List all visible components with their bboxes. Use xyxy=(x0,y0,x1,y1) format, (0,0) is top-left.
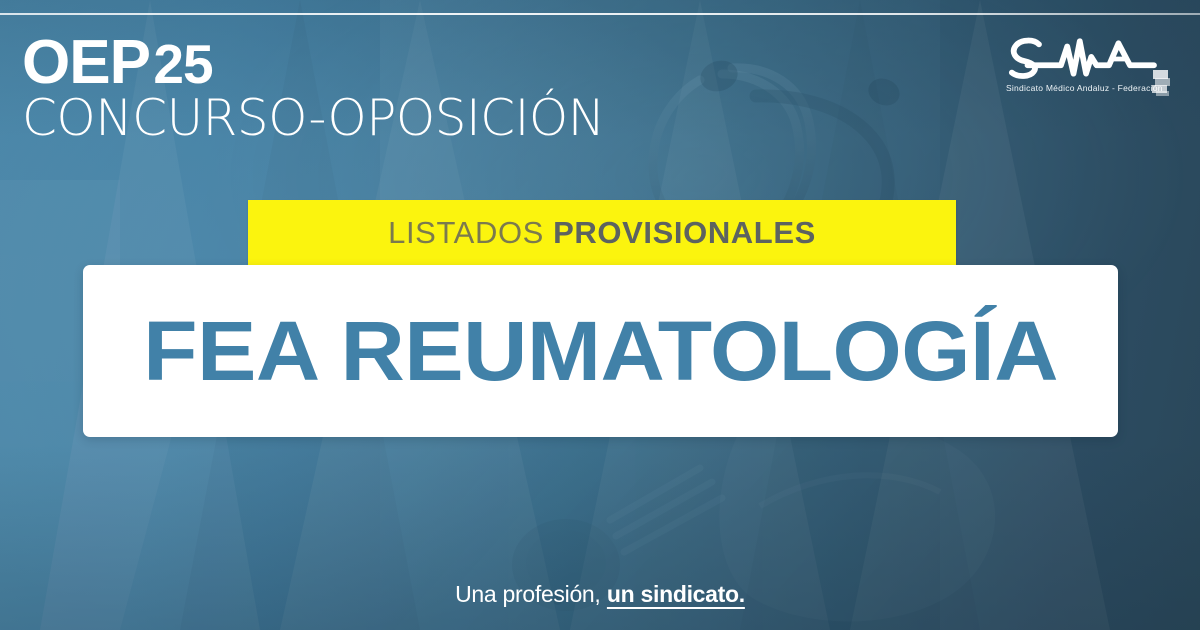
headline-line-1: OEP 25 xyxy=(22,34,605,91)
headline-block: OEP 25 CONCURSO-OPOSICIÓN xyxy=(22,34,605,143)
status-label-light: LISTADOS xyxy=(388,215,544,251)
tagline-footer: Una profesión, un sindicato. xyxy=(0,581,1200,608)
promo-banner: OEP 25 CONCURSO-OPOSICIÓN Sindicato Médi… xyxy=(0,0,1200,630)
tagline-part-bold: un sindicato. xyxy=(607,581,745,607)
status-badge: LISTADOS PROVISIONALES xyxy=(248,200,956,266)
specialty-card: FEA REUMATOLOGÍA xyxy=(83,265,1118,437)
sma-logo: Sindicato Médico Andaluz - Federación xyxy=(1006,36,1178,93)
top-divider-rule xyxy=(0,13,1200,15)
status-label-space xyxy=(544,215,553,251)
page-title: FEA REUMATOLOGÍA xyxy=(143,309,1058,393)
tagline-part-light: Una profesión, xyxy=(455,581,600,607)
headline-line-2: CONCURSO-OPOSICIÓN xyxy=(22,93,605,143)
headline-oep: OEP xyxy=(22,28,150,97)
ekg-heartbeat-line-icon xyxy=(1006,36,1164,82)
headline-year: 25 xyxy=(153,33,212,95)
status-label-bold: PROVISIONALES xyxy=(553,215,816,251)
stacked-documents-icon xyxy=(1150,70,1172,96)
